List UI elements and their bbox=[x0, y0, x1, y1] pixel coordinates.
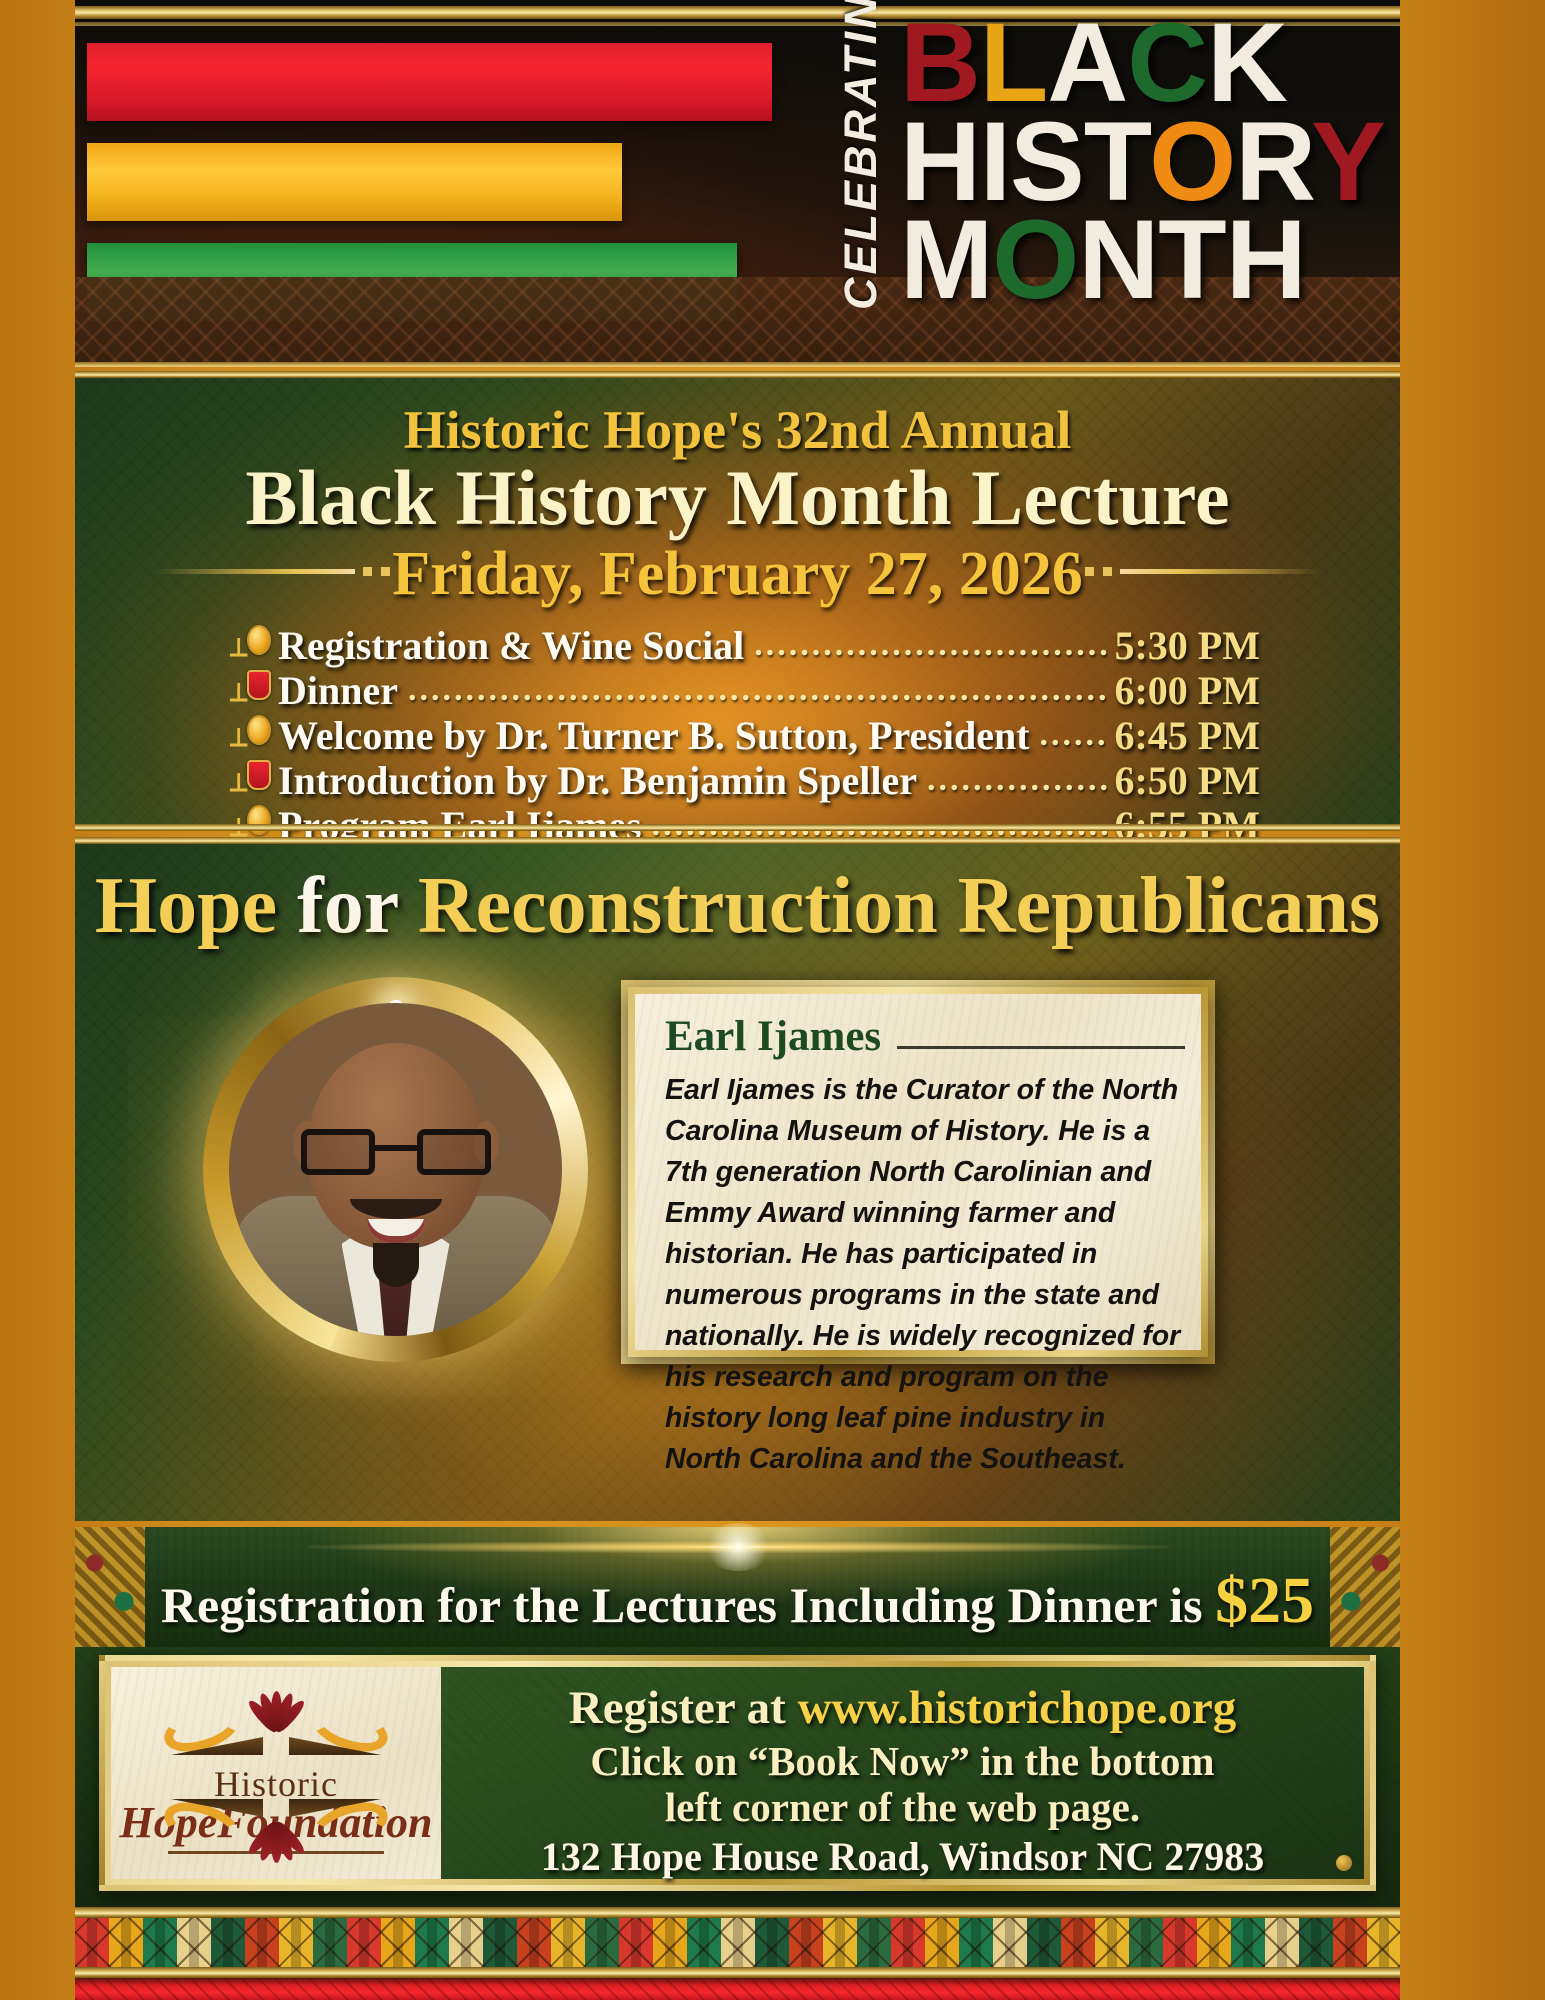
agenda-time: 6:00 PM bbox=[1114, 667, 1260, 714]
header-bottom-gold-rule bbox=[75, 362, 1400, 367]
kente-gold-rule-top bbox=[75, 1907, 1400, 1918]
logo-petals-icon bbox=[239, 1685, 313, 1731]
bullet-swoosh-icon: ⟂ bbox=[230, 680, 247, 706]
logo-petals-icon bbox=[239, 1823, 313, 1869]
registration-frame: Historic HopeFoundation Register at www.… bbox=[99, 1655, 1376, 1891]
sec1-bottom-rule bbox=[75, 824, 1400, 831]
agenda-row: ⟂Registration & Wine Social.............… bbox=[230, 619, 1260, 664]
wine-cup-icon: ⟂ bbox=[230, 754, 278, 794]
sec2-top-rule bbox=[75, 837, 1400, 844]
agenda-leader-dots: ........................................… bbox=[754, 626, 1108, 664]
agenda-list: ⟂Registration & Wine Social.............… bbox=[230, 619, 1260, 844]
light-flare-icon bbox=[308, 1541, 1168, 1553]
wine-cup-icon: ⟂ bbox=[230, 664, 278, 704]
register-instruction-line-1: Click on “Book Now” in the bottom bbox=[441, 1737, 1364, 1785]
date-dot-icon bbox=[363, 567, 372, 576]
speaker-name: Earl Ijames bbox=[665, 1012, 881, 1061]
stripe-yellow-icon bbox=[87, 143, 622, 221]
footer-red-band bbox=[75, 1978, 1400, 2000]
agenda-row: ⟂Dinner.................................… bbox=[230, 664, 1260, 709]
lecture-info-panel: Historic Hope's 32nd Annual Black Histor… bbox=[75, 371, 1400, 831]
registration-details: Register at www.historichope.org Click o… bbox=[441, 1667, 1364, 1879]
medal-icon: ⟂ bbox=[230, 709, 278, 749]
date-dash-left-icon bbox=[155, 569, 355, 574]
sec1-top-rule bbox=[75, 371, 1400, 378]
corner-dot-icon bbox=[1336, 1855, 1352, 1871]
speaker-name-rule bbox=[897, 1046, 1185, 1049]
glasses-icon bbox=[301, 1129, 491, 1177]
historic-hope-foundation-logo: Historic HopeFoundation bbox=[111, 1667, 441, 1879]
logo-ornament-bottom-icon bbox=[161, 1805, 391, 1869]
topic-word-for: for bbox=[297, 862, 398, 950]
price-amount: $25 bbox=[1215, 1564, 1314, 1637]
date-dash-right-icon bbox=[1120, 569, 1320, 574]
bio-card: Earl Ijames Earl Ijames is the Curator o… bbox=[628, 987, 1208, 1357]
agenda-leader-dots: ........................................… bbox=[408, 671, 1108, 709]
agenda-row: ⟂Introduction by Dr. Benjamin Speller...… bbox=[230, 754, 1260, 799]
logo-ornament-top-icon bbox=[161, 1685, 391, 1749]
medal-icon: ⟂ bbox=[230, 619, 278, 659]
agenda-label: Dinner bbox=[278, 667, 398, 714]
venue-address: 132 Hope House Road, Windsor NC 27983 bbox=[441, 1833, 1364, 1880]
lecture-date: Friday, February 27, 2026 bbox=[374, 540, 1101, 608]
price-text: Registration for the Lectures Including … bbox=[75, 1563, 1400, 1639]
bullet-swoosh-icon: ⟂ bbox=[230, 635, 247, 661]
stripe-red-icon bbox=[87, 43, 772, 121]
bhm-line-3: MONTH bbox=[900, 211, 1380, 310]
price-label: Registration for the Lectures Including … bbox=[161, 1577, 1215, 1633]
avatar bbox=[229, 1003, 562, 1336]
celebrating-label: CELEBRATING bbox=[835, 10, 887, 310]
register-at-label: Register at bbox=[569, 1682, 798, 1734]
register-url-line[interactable]: Register at www.historichope.org bbox=[441, 1681, 1364, 1735]
speaker-panel: Hope for Reconstruction Republicans Earl… bbox=[75, 837, 1400, 1521]
bullet-swoosh-icon: ⟂ bbox=[230, 770, 247, 796]
header-banner: CELEBRATING BLACK HISTORY MONTH bbox=[75, 0, 1400, 367]
portrait-goatee bbox=[373, 1243, 419, 1287]
agenda-time: 6:50 PM bbox=[1114, 757, 1260, 804]
lecture-topic-title: Hope for Reconstruction Republicans bbox=[75, 861, 1400, 952]
bullet-swoosh-icon: ⟂ bbox=[230, 725, 247, 751]
flyer-root: CELEBRATING BLACK HISTORY MONTH Historic… bbox=[0, 0, 1545, 2000]
topic-word-rest: Reconstruction Republicans bbox=[418, 862, 1380, 950]
agenda-label: Registration & Wine Social bbox=[278, 622, 744, 669]
date-dot-icon bbox=[1103, 567, 1112, 576]
agenda-leader-dots: ........................................… bbox=[927, 761, 1109, 799]
kente-pattern-icon bbox=[75, 1918, 1400, 1967]
kente-gold-rule-bottom bbox=[75, 1967, 1400, 1978]
black-history-month-title: BLACK HISTORY MONTH bbox=[900, 14, 1380, 310]
price-band: Registration for the Lectures Including … bbox=[75, 1527, 1400, 1647]
speaker-portrait bbox=[203, 977, 588, 1362]
register-url[interactable]: www.historichope.org bbox=[798, 1682, 1237, 1734]
lecture-date-row: Friday, February 27, 2026 bbox=[75, 539, 1400, 610]
medal-icon: ⟂ bbox=[230, 799, 278, 839]
register-instruction-line-2: left corner of the web page. bbox=[441, 1783, 1364, 1831]
lecture-kicker: Historic Hope's 32nd Annual bbox=[75, 399, 1400, 461]
agenda-label: Introduction by Dr. Benjamin Speller bbox=[278, 757, 917, 804]
bottom-kente-border bbox=[75, 1907, 1400, 2000]
topic-word-hope: Hope bbox=[95, 862, 277, 950]
registration-panel: Historic HopeFoundation Register at www.… bbox=[75, 1647, 1400, 1907]
agenda-row: ⟂Welcome by Dr. Turner B. Sutton, Presid… bbox=[230, 709, 1260, 754]
agenda-label: Welcome by Dr. Turner B. Sutton, Preside… bbox=[278, 712, 1030, 759]
speaker-bio: Earl Ijames is the Curator of the North … bbox=[665, 1070, 1189, 1480]
flyer-sheet: CELEBRATING BLACK HISTORY MONTH Historic… bbox=[75, 0, 1470, 2000]
agenda-leader-dots: ........................................… bbox=[1040, 716, 1109, 754]
agenda-time: 6:45 PM bbox=[1114, 712, 1260, 759]
lecture-title: Black History Month Lecture bbox=[75, 453, 1400, 543]
agenda-time: 5:30 PM bbox=[1114, 622, 1260, 669]
